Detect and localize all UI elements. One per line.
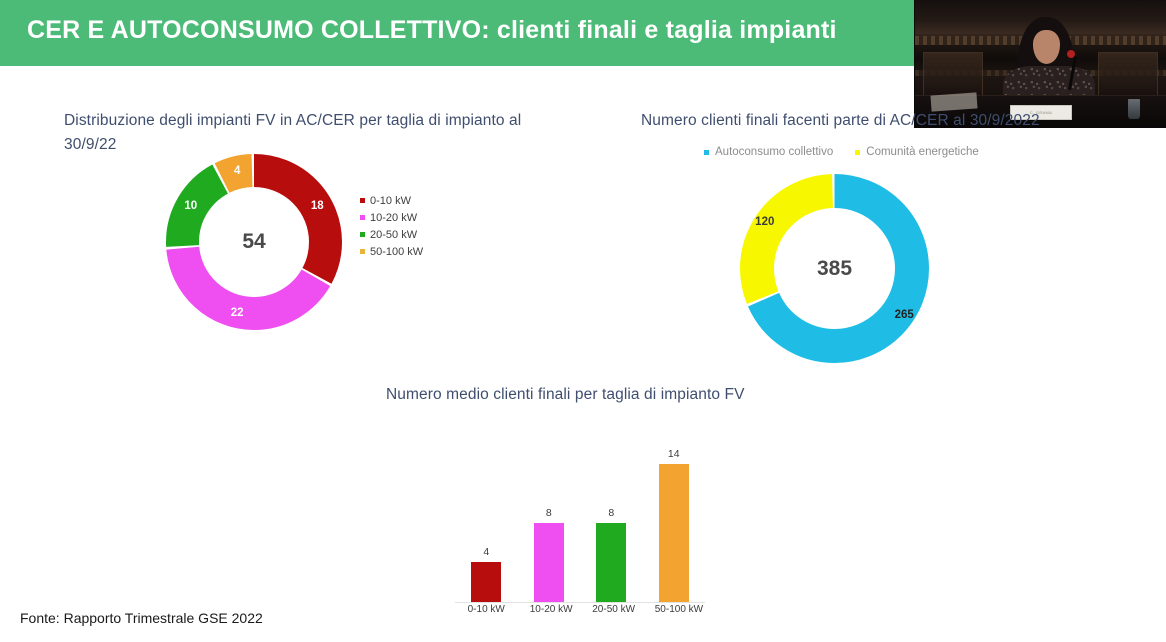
legend-swatch-icon	[704, 150, 709, 155]
legend-label: 10-20 kW	[370, 212, 417, 224]
wall-panel-right	[1098, 52, 1158, 96]
wall-panel-left	[923, 52, 983, 96]
bar-value-label: 14	[668, 448, 680, 460]
donut-slice-label: 120	[755, 216, 774, 228]
bar-x-tick-label: 20-50 kW	[592, 604, 630, 615]
legend-swatch-icon	[360, 249, 365, 254]
bar-column[interactable]: 8	[592, 418, 630, 602]
bar-value-label: 8	[546, 507, 552, 519]
legend-label: Comunità energetiche	[866, 146, 979, 158]
bar-x-tick-label: 50-100 kW	[655, 604, 693, 615]
bar-value-label: 8	[608, 507, 614, 519]
water-glass	[1128, 99, 1140, 119]
legend-label: 20-50 kW	[370, 229, 417, 241]
legend-item-autoconsumo-collettivo[interactable]: Autoconsumo collettivo	[704, 146, 833, 158]
bar-value-label: 4	[483, 546, 489, 558]
bar-column[interactable]: 4	[467, 418, 505, 602]
right-donut-chart[interactable]: 385 265120	[738, 172, 931, 365]
legend-item-comunita-energetiche[interactable]: Comunità energetiche	[855, 146, 979, 158]
bar-column[interactable]: 8	[530, 418, 568, 602]
legend-label: Autoconsumo collettivo	[715, 146, 833, 158]
right-chart-title: Numero clienti finali facenti parte di A…	[641, 109, 1111, 133]
donut-slice-label: 10	[184, 200, 197, 212]
donut-slice-label: 4	[234, 165, 240, 177]
legend-label: 0-10 kW	[370, 195, 411, 207]
legend-item-20-50kw[interactable]: 20-50 kW	[360, 226, 423, 243]
legend-item-10-20kw[interactable]: 10-20 kW	[360, 209, 423, 226]
page-title-bold: CER E AUTOCONSUMO COLLETTIVO:	[27, 16, 490, 44]
source-note: Fonte: Rapporto Trimestrale GSE 2022	[20, 610, 263, 626]
page-title-rest: clienti finali e taglia impianti	[490, 16, 837, 44]
left-donut-svg	[164, 152, 344, 332]
bar-plot-area: 48814	[455, 418, 705, 603]
legend-label: 50-100 kW	[370, 246, 423, 258]
bar-rect[interactable]	[596, 523, 626, 602]
legend-swatch-icon	[360, 232, 365, 237]
bar-x-axis: 0-10 kW10-20 kW20-50 kW50-100 kW	[455, 604, 705, 615]
bar-rect[interactable]	[659, 464, 689, 602]
legend-swatch-icon	[360, 215, 365, 220]
legend-item-0-10kw[interactable]: 0-10 kW	[360, 192, 423, 209]
legend-item-50-100kw[interactable]: 50-100 kW	[360, 243, 423, 260]
legend-swatch-icon	[855, 150, 860, 155]
left-chart-title: Distribuzione degli impianti FV in AC/CE…	[64, 109, 534, 157]
bar-rect[interactable]	[471, 562, 501, 602]
donut-slice-label: 265	[895, 309, 914, 321]
page-title: CER E AUTOCONSUMO COLLETTIVO: clienti fi…	[27, 16, 837, 45]
legend-swatch-icon	[360, 198, 365, 203]
right-chart-legend: Autoconsumo collettivo Comunità energeti…	[704, 146, 979, 158]
bar-chart[interactable]: 48814 0-10 kW10-20 kW20-50 kW50-100 kW	[455, 418, 705, 624]
bar-chart-title: Numero medio clienti finali per taglia d…	[386, 383, 806, 407]
bar-x-tick-label: 0-10 kW	[467, 604, 505, 615]
microphone-head-icon	[1067, 50, 1075, 58]
bar-column[interactable]: 14	[655, 418, 693, 602]
right-donut-svg	[738, 172, 931, 365]
donut-slice-label: 18	[311, 200, 324, 212]
bar-rect[interactable]	[534, 523, 564, 602]
left-chart-legend: 0-10 kW 10-20 kW 20-50 kW 50-100 kW	[360, 192, 423, 260]
donut-slice-label: 22	[231, 307, 244, 319]
bar-x-tick-label: 10-20 kW	[530, 604, 568, 615]
left-donut-chart[interactable]: 54 1822104	[164, 152, 344, 332]
